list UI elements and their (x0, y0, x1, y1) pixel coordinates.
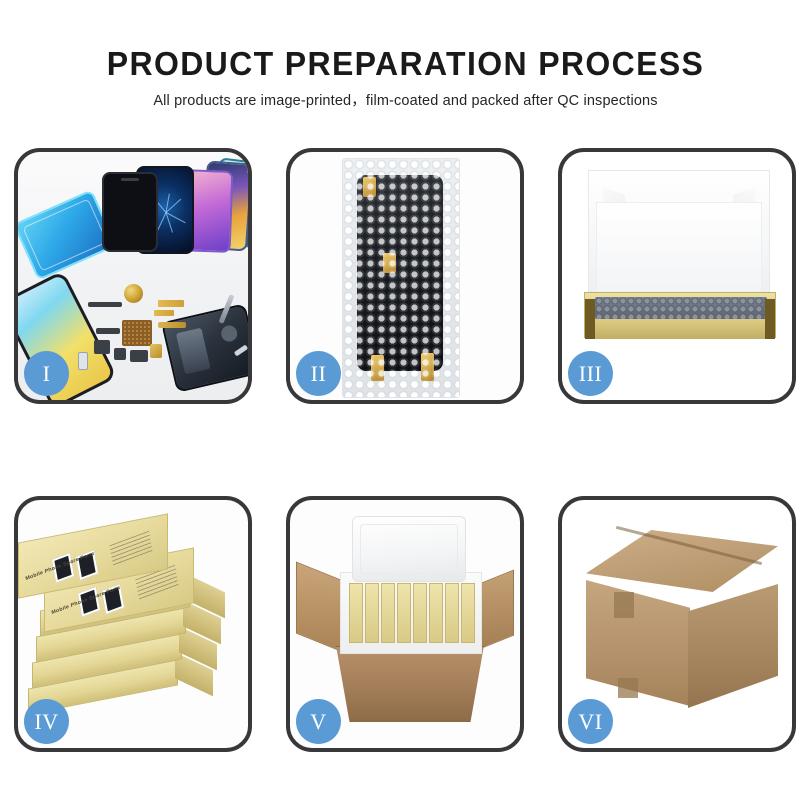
flex-cable-part-b (154, 310, 174, 316)
foam-box-lid (352, 516, 466, 582)
step-badge-2: II (296, 351, 341, 396)
process-step-panel-3[interactable]: III (558, 148, 796, 404)
process-step-panel-6[interactable]: VI (558, 496, 796, 752)
foam-box (340, 572, 482, 654)
carton-tape-upper (614, 592, 634, 618)
process-step-panel-1[interactable]: I (14, 148, 252, 404)
retail-box-row (349, 583, 475, 643)
packed-retail-box (461, 583, 475, 643)
gold-contact-tab-top (363, 177, 376, 197)
carton-body (326, 646, 494, 722)
flex-cable-part-a (158, 300, 184, 307)
logic-chip-part (122, 320, 152, 346)
step-badge-5: V (296, 699, 341, 744)
packed-retail-box (397, 583, 411, 643)
packed-retail-box (445, 583, 459, 643)
process-step-panel-2[interactable]: II (286, 148, 524, 404)
carton-tape-lower (618, 678, 638, 698)
step-badge-3: III (568, 351, 613, 396)
kraft-box-tray (584, 292, 776, 338)
page-subtitle: All products are image-printed，film-coat… (0, 91, 811, 111)
packed-retail-box (349, 583, 363, 643)
antenna-flex-part (158, 322, 186, 328)
packed-retail-box (365, 583, 379, 643)
connector-part-a (96, 328, 120, 334)
process-step-panel-4[interactable]: Mobile Phone Spare Parts Mobile Phone Sp… (14, 496, 252, 752)
camera-module-part (94, 340, 110, 354)
step-badge-4: IV (24, 699, 69, 744)
screen-flex-cable (389, 259, 405, 363)
gold-contact-tab-left (371, 355, 384, 381)
process-step-grid: I II (14, 148, 797, 752)
earpiece-mesh-part (88, 302, 122, 307)
gold-contact-tab-mid (383, 253, 396, 273)
carton-front-face (586, 580, 690, 706)
front-glass-panel (102, 172, 158, 252)
packed-retail-box (413, 583, 427, 643)
battery-part (78, 352, 88, 370)
carton-side-face (688, 584, 778, 708)
step-badge-6: VI (568, 699, 613, 744)
sim-tray-part (150, 344, 162, 358)
packed-retail-box (429, 583, 443, 643)
page-title: PRODUCT PREPARATION PROCESS (12, 44, 799, 84)
step-badge-1: I (24, 351, 69, 396)
page-header: PRODUCT PREPARATION PROCESS All products… (0, 0, 811, 111)
speaker-part (130, 350, 148, 362)
speaker-module-part (124, 284, 143, 303)
gold-contact-tab-right (421, 353, 434, 381)
packed-retail-box (381, 583, 395, 643)
white-foam-insert (596, 202, 762, 298)
vibrator-part (114, 348, 126, 360)
bubble-wrap-bag (342, 158, 460, 398)
bubble-wrapped-contents (595, 297, 767, 319)
process-step-panel-5[interactable]: V (286, 496, 524, 752)
